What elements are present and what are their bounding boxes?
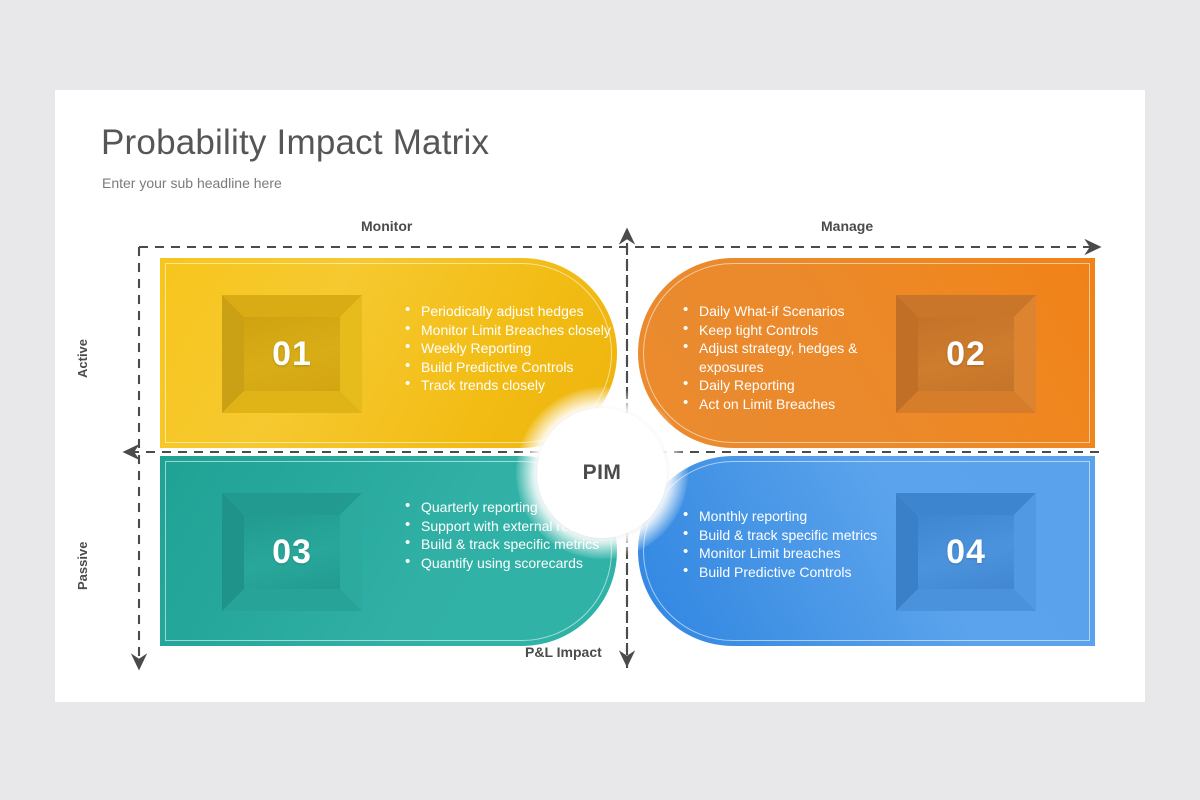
list-item: Monitor Limit Breaches closely <box>405 321 615 340</box>
plate-bevel-top <box>896 493 1036 515</box>
plate-bevel-bottom <box>896 391 1036 413</box>
axis-label-active: Active <box>75 339 90 378</box>
quadrant-01-number-plate: 01 <box>222 295 362 413</box>
quadrant-04-bullet-list: Monthly reporting Build & track specific… <box>683 507 893 581</box>
list-item: Monitor Limit breaches <box>683 544 893 563</box>
center-pim-circle[interactable]: PIM <box>537 408 667 538</box>
plate-bevel-top <box>222 493 362 515</box>
list-item: Monthly reporting <box>683 507 893 526</box>
list-item: Quantify using scorecards <box>405 554 615 573</box>
list-item: Keep tight Controls <box>683 321 898 340</box>
axis-label-pl-impact: P&L Impact <box>525 644 602 660</box>
plate-bevel-top <box>222 295 362 317</box>
quadrant-02-number-plate: 02 <box>896 295 1036 413</box>
plate-bevel-bottom <box>222 391 362 413</box>
quadrant-03-number: 03 <box>272 533 312 572</box>
plate-bevel-bottom <box>222 589 362 611</box>
axis-label-passive: Passive <box>75 542 90 590</box>
quadrant-01[interactable]: 01 Periodically adjust hedges Monitor Li… <box>160 258 617 448</box>
center-pim-label: PIM <box>583 461 622 485</box>
quadrant-04-number: 04 <box>946 533 986 572</box>
list-item: Weekly Reporting <box>405 339 615 358</box>
list-item: Build Predictive Controls <box>405 358 615 377</box>
list-item: Daily What-if Scenarios <box>683 302 898 321</box>
list-item: Periodically adjust hedges <box>405 302 615 321</box>
quadrant-04[interactable]: 04 Monthly reporting Build & track speci… <box>638 456 1095 646</box>
plate-bevel-top <box>896 295 1036 317</box>
axis-label-manage: Manage <box>821 218 873 234</box>
list-item: Build Predictive Controls <box>683 563 893 582</box>
list-item: Track trends closely <box>405 376 615 395</box>
list-item: Build & track specific metrics <box>683 526 893 545</box>
quadrant-03-number-plate: 03 <box>222 493 362 611</box>
quadrant-02[interactable]: 02 Daily What-if Scenarios Keep tight Co… <box>638 258 1095 448</box>
quadrant-01-bullet-list: Periodically adjust hedges Monitor Limit… <box>405 302 615 395</box>
slide-canvas: Probability Impact Matrix Enter your sub… <box>55 90 1145 702</box>
quadrant-01-number: 01 <box>272 335 312 374</box>
quadrant-02-bullet-list: Daily What-if Scenarios Keep tight Contr… <box>683 302 898 413</box>
quadrant-04-number-plate: 04 <box>896 493 1036 611</box>
quadrant-02-number: 02 <box>946 335 986 374</box>
list-item: Adjust strategy, hedges & exposures <box>683 339 898 376</box>
probability-impact-matrix: Monitor Manage Active Passive Probabilit… <box>55 90 1145 702</box>
list-item: Act on Limit Breaches <box>683 395 898 414</box>
axis-label-monitor: Monitor <box>361 218 412 234</box>
list-item: Build & track specific metrics <box>405 535 615 554</box>
list-item: Daily Reporting <box>683 376 898 395</box>
plate-bevel-bottom <box>896 589 1036 611</box>
screenshot-stage: Probability Impact Matrix Enter your sub… <box>0 0 1200 800</box>
